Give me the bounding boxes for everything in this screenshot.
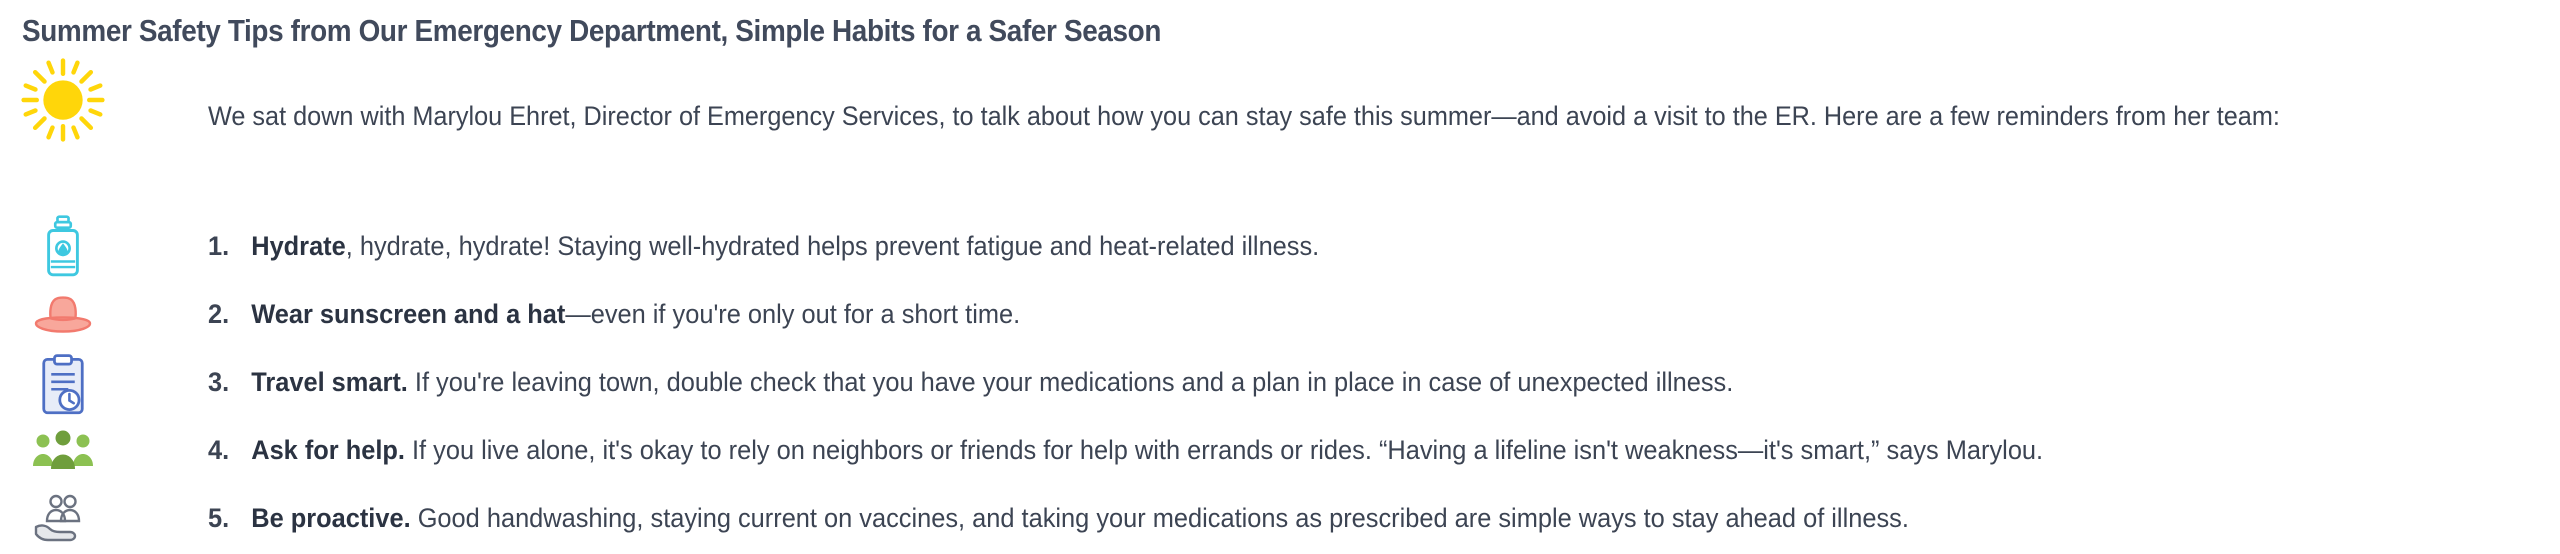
list-item-lead: Ask for help. [251,435,405,465]
list-item-text: —even if you're only out for a short tim… [565,299,1020,329]
list-item: 1.Hydrate, hydrate, hydrate! Staying wel… [208,212,2408,280]
sun-hat-icon [8,290,118,344]
list-item-text: Good handwashing, staying current on vac… [411,503,1909,533]
list-item-lead: Wear sunscreen and a hat [251,299,565,329]
list-item: 3.Travel smart. If you're leaving town, … [208,348,2408,416]
water-bottle-icon [8,216,118,276]
list-item-lead: Be proactive. [251,503,410,533]
article-page: Summer Safety Tips from Our Emergency De… [0,0,2560,554]
tips-list: 1.Hydrate, hydrate, hydrate! Staying wel… [208,212,2548,552]
clipboard-checklist-icon [8,354,118,416]
list-item-text: If you're leaving town, double check tha… [408,367,1733,397]
list-item-lead: Travel smart. [251,367,408,397]
sun-icon [8,60,118,140]
group-people-icon [8,424,118,478]
list-item-number: 1. [208,212,251,280]
list-item-number: 2. [208,280,251,348]
helping-hand-icon [8,492,118,546]
intro-paragraph: We sat down with Marylou Ehret, Director… [208,96,2396,137]
list-item-number: 4. [208,416,251,484]
list-item-number: 5. [208,484,251,552]
list-item-number: 3. [208,348,251,416]
page-title: Summer Safety Tips from Our Emergency De… [22,13,1161,49]
list-item-text: If you live alone, it's okay to rely on … [405,435,2043,465]
list-item: 4.Ask for help. If you live alone, it's … [208,416,2408,484]
list-item: 2.Wear sunscreen and a hat—even if you'r… [208,280,2408,348]
list-item: 5.Be proactive. Good handwashing, stayin… [208,484,2408,552]
list-item-lead: Hydrate [251,231,346,261]
list-item-text: , hydrate, hydrate! Staying well-hydrate… [346,231,1319,261]
